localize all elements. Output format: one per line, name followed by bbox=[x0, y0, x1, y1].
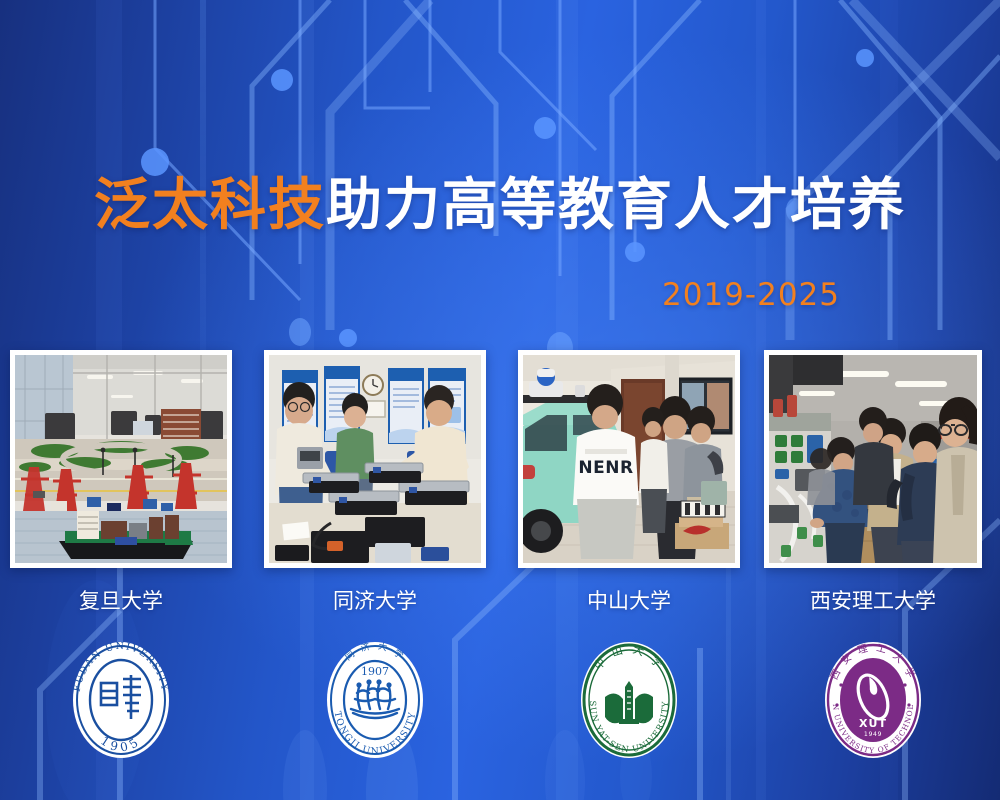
logo-slot-sun-yat-sen: 中 山 大 学 SUN YAT-SEN UNIVERSITY bbox=[518, 630, 740, 770]
logo-slot-fudan: FUDAN UNIVERSITY 1905 bbox=[10, 630, 232, 770]
svg-text:NENR: NENR bbox=[578, 458, 633, 478]
svg-text:1907: 1907 bbox=[361, 665, 389, 678]
tongji-university-logo: 同 济 大 学 TONGJI UNIVERSITY 1907 bbox=[321, 635, 429, 765]
logo-slot-xian-university-of-technology: 西 安 理 工 大 学 XI AN UNIVERSITY OF TECHNOLO… bbox=[764, 630, 982, 770]
caption-university-0: 复旦大学 bbox=[10, 585, 232, 615]
presentation-slide: 泛太科技助力高等教育人才培养 2019-2025 bbox=[0, 0, 1000, 800]
xian-university-of-technology-logo: 西 安 理 工 大 学 XI AN UNIVERSITY OF TECHNOLO… bbox=[819, 635, 927, 765]
caption-university-3: 西安理工大学 bbox=[764, 585, 982, 615]
svg-text:XUT: XUT bbox=[859, 717, 887, 730]
page-title: 泛太科技助力高等教育人才培养 bbox=[0, 178, 1000, 234]
photo-image-electronics-lab bbox=[269, 355, 481, 563]
photo-card-tongji bbox=[264, 350, 486, 568]
photo-gallery: NENR bbox=[0, 350, 1000, 570]
title-rest-text: 助力高等教育人才培养 bbox=[326, 173, 906, 238]
photo-image-autonomous-vehicle-lab: NENR bbox=[523, 355, 735, 563]
caption-university-2: 中山大学 bbox=[518, 585, 740, 615]
title-brand-text: 泛太科技 bbox=[94, 173, 326, 238]
svg-text:1949: 1949 bbox=[864, 731, 882, 738]
caption-university-1: 同济大学 bbox=[264, 585, 486, 615]
photo-card-sun-yat-sen: NENR bbox=[518, 350, 740, 568]
photo-image-workshop-demonstration bbox=[769, 355, 977, 563]
logo-slot-tongji: 同 济 大 学 TONGJI UNIVERSITY 1907 bbox=[264, 630, 486, 770]
photo-card-fudan bbox=[10, 350, 232, 568]
photo-card-xian-university-of-technology bbox=[764, 350, 982, 568]
university-logo-row: FUDAN UNIVERSITY 1905 bbox=[0, 630, 1000, 775]
fudan-university-logo: FUDAN UNIVERSITY 1905 bbox=[67, 635, 175, 765]
subtitle-date-range: 2019-2025 bbox=[662, 277, 840, 313]
sun-yat-sen-university-logo: 中 山 大 学 SUN YAT-SEN UNIVERSITY bbox=[575, 635, 683, 765]
photo-image-port-sandbox-model bbox=[15, 355, 227, 563]
